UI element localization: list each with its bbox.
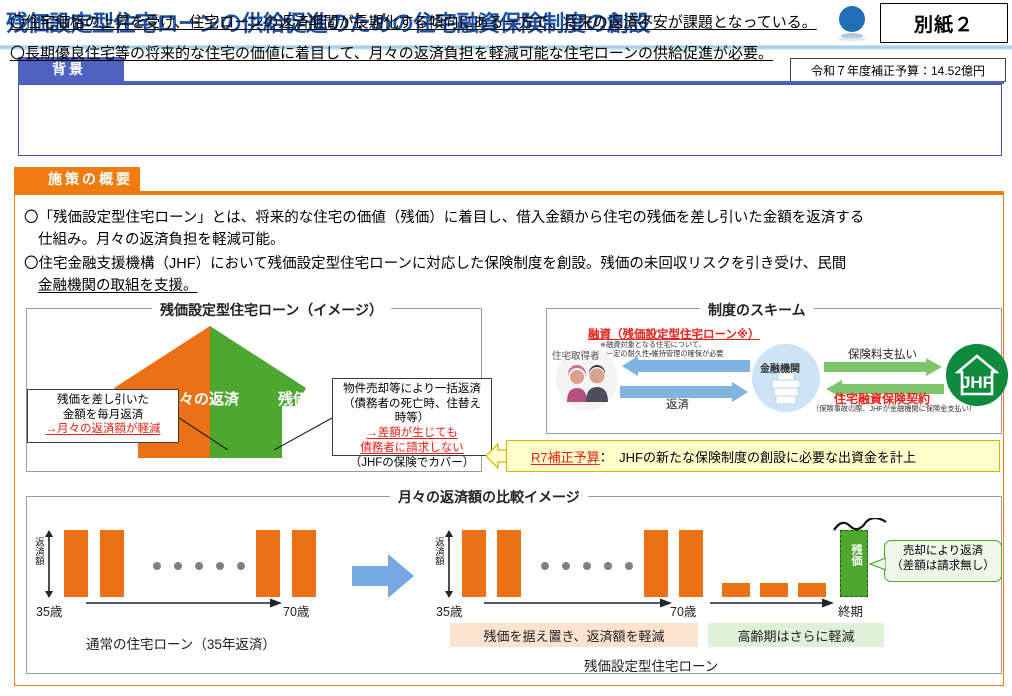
ellipsis-dot <box>583 562 591 570</box>
left-chart-start-age: 35歳 <box>36 601 62 620</box>
scheme-bank-label: 金融機関 <box>760 360 800 375</box>
sale-repayment-bubble: 売却により返済 （差額は請求無し） <box>884 540 1002 582</box>
mlit-swirl-logo-icon <box>836 4 870 42</box>
summary-line-2-text: 仕組み。月々の返済負担を軽減可能。 <box>38 232 285 248</box>
ellipsis-dot <box>237 562 245 570</box>
callout-right-line-1: 物件売却等により一括返済 <box>338 382 486 397</box>
right-chart-final-label: 終期 <box>838 601 863 620</box>
callout-left-line-3: →月々の返済額が軽減 <box>33 422 173 437</box>
bank-building-icon <box>752 344 820 412</box>
bar-reduced <box>760 583 788 597</box>
background-line-1-text: 〇住宅価格の上昇を受け、住宅ローンの返済期間が長期化する傾向にある一方で、将来の… <box>10 14 817 31</box>
scheme-loan-note-line-1: ※融資対象となる住宅について、 <box>600 340 723 349</box>
summary-line-3-text: 〇住宅金融支援機構（JHF）において残価設定型住宅ローンに対応した保険制度を創設… <box>24 256 846 272</box>
transition-arrow-icon <box>352 552 414 600</box>
right-chart-caption: 残価設定型住宅ローン <box>584 655 718 675</box>
ellipsis-dot <box>153 562 161 570</box>
background-line-2-text: 〇長期優良住宅等の将来的な住宅の価値に着目して、月々の返済負担を軽減可能な住宅ロ… <box>10 45 773 62</box>
section-tab-summary-label: 施策の概要 <box>48 169 133 189</box>
jhf-house-logo-icon: JHF <box>946 344 1008 406</box>
right-chart-end-age: 70歳 <box>670 601 696 620</box>
pill-elderly-reduction: 高齢期はさらに軽減 <box>708 623 884 647</box>
background-content-box <box>18 84 1002 156</box>
section-tab-summary: 施策の概要 <box>14 167 140 191</box>
callout-right-line-5: （JHFの保険でカバー） <box>338 456 486 471</box>
left-chart-axis-label: 返済額 <box>31 537 45 566</box>
scheme-loan-note-line-2: 一定の耐久性・維持管理の確保が必要 <box>600 349 723 358</box>
bar <box>64 530 88 597</box>
r7-budget-banner-label: R7補正予算 <box>531 447 600 466</box>
summary-line-1-text: 〇「残価設定型住宅ローン」とは、将来的な住宅の価値（残価）に着目し、借入金額から… <box>24 210 864 226</box>
pill-elderly-reduction-label: 高齢期はさらに軽減 <box>737 626 854 645</box>
pill-residual-deferral: 残価を据え置き、返済額を軽減 <box>450 623 698 647</box>
callout-left-line-2: 金額を毎月返済 <box>33 408 173 423</box>
bar-reduced <box>798 583 826 597</box>
bar-reduced <box>722 583 750 597</box>
bar <box>100 530 124 597</box>
budget-badge: 令和７年度補正予算：14.52億円 <box>790 58 1006 82</box>
right-chart-x-axis-2 <box>710 597 834 609</box>
background-line-2: 〇長期優良住宅等の将来的な住宅の価値に着目して、月々の返済負担を軽減可能な住宅ロ… <box>10 42 773 63</box>
right-chart-start-age: 35歳 <box>436 601 462 620</box>
house-residual-value-label: 残価 <box>278 388 308 409</box>
scheme-repayment-label: 返済 <box>666 396 689 412</box>
scheme-contract-note: （保険事故の際、JHFが金融機関に保険金支払い） <box>812 404 976 414</box>
pill-residual-deferral-label: 残価を据え置き、返済額を軽減 <box>483 626 664 645</box>
callout-right-line-4: 債務者に請求しない <box>338 441 486 456</box>
callout-left-reduced-payment: 残価を差し引いた 金額を毎月返済 →月々の返済額が軽減 <box>27 389 179 443</box>
bubble-pointer-icon <box>868 556 886 572</box>
ellipsis-dot <box>216 562 224 570</box>
ellipsis-dot <box>174 562 182 570</box>
callout-right-connector <box>274 408 338 458</box>
ellipsis-dot <box>625 562 633 570</box>
bar <box>644 530 668 597</box>
summary-line-2: 仕組み。月々の返済負担を軽減可能。 <box>38 228 285 249</box>
ellipsis-dot <box>562 562 570 570</box>
ellipsis-dot <box>541 562 549 570</box>
summary-line-1: 〇「残価設定型住宅ローン」とは、将来的な住宅の価値（残価）に着目し、借入金額から… <box>24 206 864 227</box>
budget-badge-label: 令和７年度補正予算：14.52億円 <box>811 62 985 79</box>
r7-budget-banner: R7補正予算 ： JHFの新たな保険制度の創設に必要な出資金を計上 <box>506 440 1000 472</box>
bar <box>256 530 280 597</box>
attachment-number-box: 別紙２ <box>880 3 1008 43</box>
comparison-panel-title: 月々の返済額の比較イメージ <box>390 487 588 507</box>
r7-budget-banner-text: ： JHFの新たな保険制度の創設に必要な出資金を計上 <box>600 447 916 466</box>
residual-value-bar-label: 残価 <box>848 544 864 566</box>
callout-right-line-3: →差額が生じても <box>338 426 486 441</box>
callout-left-line-1: 残価を差し引いた <box>33 393 173 408</box>
scheme-loan-note: ※融資対象となる住宅について、 一定の耐久性・維持管理の確保が必要 <box>600 340 723 358</box>
attachment-number-label: 別紙２ <box>914 10 974 37</box>
infographic-page: 残価設定型住宅ローンの供給促進のための住宅融資保険制度の創設 別紙２ 令和７年度… <box>0 0 1012 696</box>
summary-line-4: 金融機関の取組を支援。 <box>38 274 198 295</box>
scheme-owner-label: 住宅取得者 <box>552 348 600 362</box>
sale-repayment-bubble-line-1: 売却により返済 <box>891 544 995 559</box>
background-line-1: 〇住宅価格の上昇を受け、住宅ローンの返済期間が長期化する傾向にある一方で、将来の… <box>10 11 817 32</box>
ellipsis-dot <box>604 562 612 570</box>
loan-image-panel-title: 残価設定型住宅ローン（イメージ） <box>152 300 391 320</box>
loan-arrow-icon <box>620 356 750 376</box>
bar <box>679 530 703 597</box>
callout-right-line-2: （債務者の死亡時、住替え時等） <box>338 397 486 426</box>
bar <box>292 530 316 597</box>
svg-text:JHF: JHF <box>961 373 993 392</box>
bar <box>462 530 486 597</box>
callout-right-lump-sum: 物件売却等により一括返済 （債務者の死亡時、住替え時等） →差額が生じても 債務… <box>332 378 492 456</box>
left-chart-x-axis <box>86 597 282 609</box>
left-chart-caption: 通常の住宅ローン（35年返済） <box>86 633 276 653</box>
left-chart-end-age: 70歳 <box>283 601 309 620</box>
bar <box>497 530 521 597</box>
right-chart-x-axis-1 <box>484 597 672 609</box>
summary-line-4-text: 金融機関の取組を支援。 <box>38 278 198 294</box>
scheme-panel-title: 制度のスキーム <box>700 300 814 320</box>
callout-left-connector <box>170 408 240 458</box>
ellipsis-dot <box>195 562 203 570</box>
right-chart-axis-label: 返済額 <box>431 537 445 566</box>
sale-repayment-bubble-line-2: （差額は請求無し） <box>891 559 995 574</box>
scheme-premium-label: 保険料支払い <box>848 346 917 362</box>
summary-line-3: 〇住宅金融支援機構（JHF）において残価設定型住宅ローンに対応した保険制度を創設… <box>24 252 846 273</box>
squiggle-break-icon <box>832 518 888 536</box>
